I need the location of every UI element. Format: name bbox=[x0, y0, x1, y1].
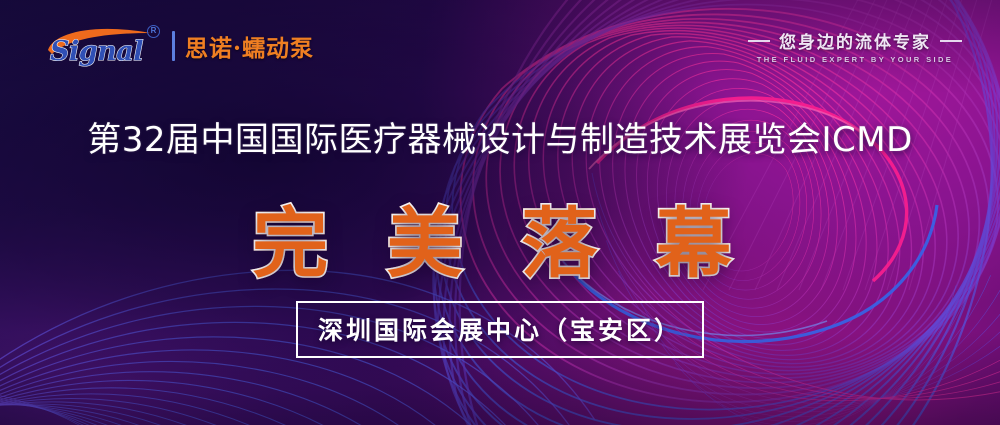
company-tagline: 您身边的流体专家 THE FLUID EXPERT BY YOUR SIDE bbox=[748, 28, 962, 64]
brand-logo: Signal R 思诺·蠕动泵 bbox=[44, 24, 314, 68]
tagline-dash-left bbox=[748, 40, 770, 42]
venue-badge: 深圳国际会展中心（宝安区） bbox=[296, 301, 704, 358]
event-banner: Signal R 思诺·蠕动泵 您身边的流体专家 THE FLUID EXPER… bbox=[0, 0, 1000, 425]
logo-divider bbox=[172, 31, 175, 61]
svg-text:Signal: Signal bbox=[50, 36, 143, 67]
event-status-word-text: 完 美 落 幕 bbox=[252, 199, 747, 288]
tagline-chinese: 您身边的流体专家 bbox=[779, 28, 931, 53]
signal-wordmark: Signal R bbox=[44, 24, 162, 68]
tagline-english: THE FLUID EXPERT BY YOUR SIDE bbox=[757, 55, 953, 64]
tagline-main-row: 您身边的流体专家 bbox=[748, 28, 962, 53]
signal-logo-icon: Signal bbox=[44, 24, 162, 68]
tagline-dash-right bbox=[940, 40, 962, 42]
event-status-word: 完 美 落 幕 bbox=[0, 182, 1000, 292]
registered-trademark-icon: R bbox=[147, 25, 160, 38]
event-headline: 第32届中国国际医疗器械设计与制造技术展览会ICMD bbox=[0, 112, 1000, 161]
chinese-brand-name: 思诺·蠕动泵 bbox=[185, 29, 314, 63]
